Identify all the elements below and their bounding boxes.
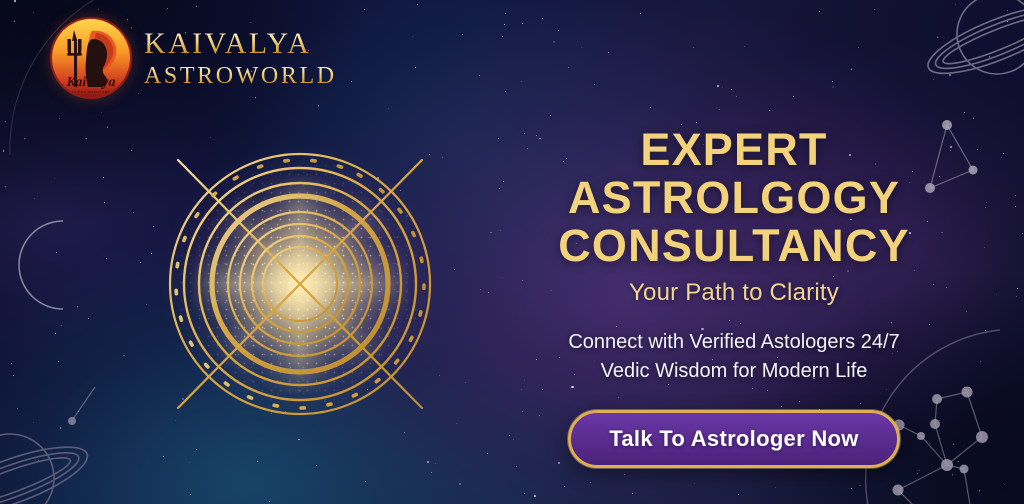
body-line-2: Vedic Wisdom for Modern Life bbox=[568, 357, 899, 385]
headline-line-3: CONSULTANCY bbox=[558, 222, 910, 270]
astrology-mandala-icon bbox=[128, 112, 472, 456]
brand-name-line2: ASTROWORLD bbox=[144, 64, 337, 88]
headline-line-2: ASTROLGOGY bbox=[558, 174, 910, 222]
page-title: EXPERT ASTROLGOGY CONSULTANCY bbox=[558, 126, 910, 270]
astrology-promo-banner: Kaivalya Indian Astrology KAIVALYA ASTRO… bbox=[0, 0, 1024, 504]
talk-to-astrologer-button[interactable]: Talk To Astrologer Now bbox=[568, 410, 899, 468]
svg-text:Kaivalya: Kaivalya bbox=[66, 74, 116, 89]
crescent-moon-icon bbox=[15, 215, 95, 315]
mandala-rings bbox=[128, 112, 472, 456]
brand-wordmark: KAIVALYA ASTROWORLD bbox=[144, 29, 337, 88]
body-line-1: Connect with Verified Astologers 24/7 bbox=[568, 328, 899, 356]
hero-subheadline: Your Path to Clarity bbox=[629, 279, 839, 307]
brand-name-line1: KAIVALYA bbox=[144, 29, 337, 59]
shooting-star-icon bbox=[55, 385, 115, 445]
brand-logo[interactable]: Kaivalya Indian Astrology KAIVALYA ASTRO… bbox=[52, 19, 337, 97]
shiva-trident-badge-icon: Kaivalya Indian Astrology bbox=[52, 19, 130, 97]
headline-line-1: EXPERT bbox=[558, 126, 910, 174]
hero-body-copy: Connect with Verified Astologers 24/7 Ve… bbox=[568, 328, 899, 385]
svg-text:Indian Astrology: Indian Astrology bbox=[72, 89, 110, 94]
hero-content: EXPERT ASTROLGOGY CONSULTANCY Your Path … bbox=[492, 126, 976, 468]
